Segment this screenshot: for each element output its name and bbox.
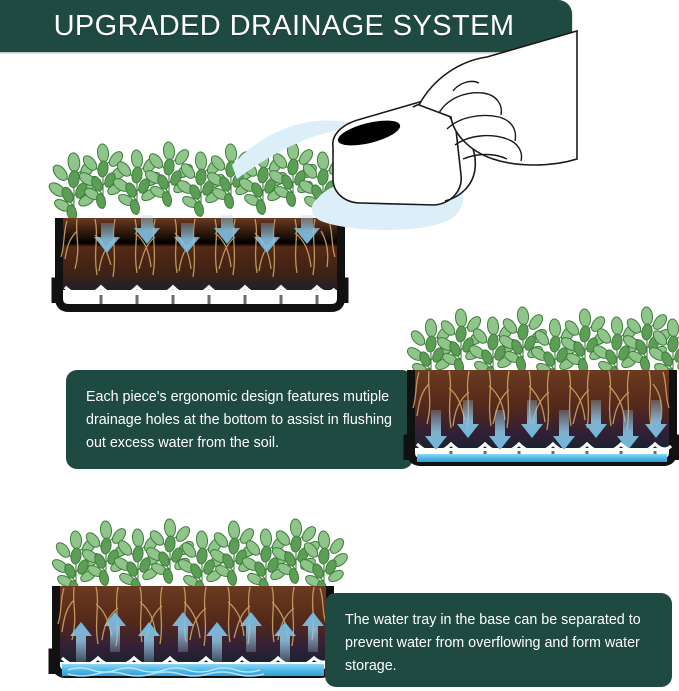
foliage-group <box>50 518 350 596</box>
water-reservoir <box>417 454 667 462</box>
watering-can-illustration <box>327 55 577 245</box>
infographic-canvas: UPGRADED DRAINAGE SYSTEM <box>0 0 679 691</box>
planter-top-graphic <box>55 135 345 320</box>
foliage-group <box>47 141 349 221</box>
watering-can-body <box>333 100 461 205</box>
illustration-planter-bottom <box>48 512 338 691</box>
caption-drainage-holes: Each piece's ergonomic design features m… <box>66 370 413 469</box>
drainage-holes <box>101 295 317 304</box>
page-title: UPGRADED DRAINAGE SYSTEM <box>40 10 515 43</box>
caption-water-tray: The water tray in the base can be separa… <box>325 593 672 687</box>
illustration-planter-middle <box>405 300 679 480</box>
planter-middle-graphic <box>405 300 679 480</box>
planter-bottom-graphic <box>48 512 338 691</box>
illustration-planter-top <box>55 135 345 320</box>
water-reservoir <box>62 664 324 676</box>
title-banner: UPGRADED DRAINAGE SYSTEM <box>0 0 572 52</box>
